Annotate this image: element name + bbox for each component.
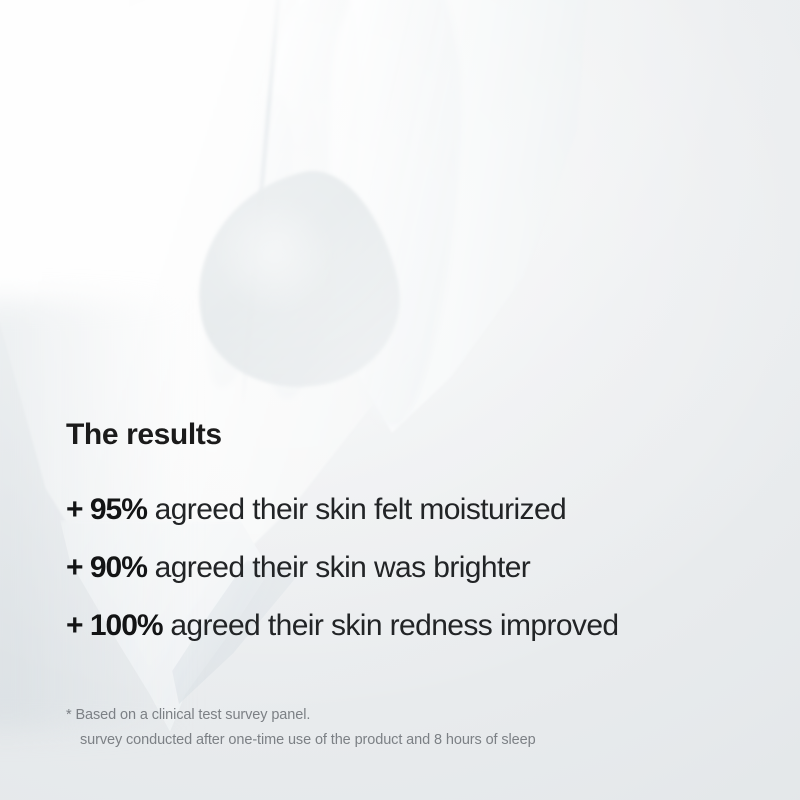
stat-label-1: agreed their skin felt moisturized — [147, 493, 566, 526]
stat-value-3: + 100% — [66, 609, 163, 642]
text-overlay: The results + 95% agreed their skin felt… — [0, 0, 800, 800]
stat-label-2: agreed their skin was brighter — [147, 551, 530, 584]
stat-label-3: agreed their skin redness improved — [163, 609, 619, 642]
stat-value-1: + 95% — [66, 493, 147, 526]
footnote: * Based on a clinical test survey panel.… — [66, 703, 536, 753]
slide-canvas: The results + 95% agreed their skin felt… — [0, 0, 800, 800]
stat-value-2: + 90% — [66, 551, 147, 584]
list-item: + 100% agreed their skin redness improve… — [66, 611, 766, 641]
list-item: + 95% agreed their skin felt moisturized — [66, 495, 766, 525]
list-item: + 90% agreed their skin was brighter — [66, 553, 766, 583]
footnote-line-1: * Based on a clinical test survey panel. — [66, 707, 310, 723]
footnote-line-2: survey conducted after one-time use of t… — [66, 728, 536, 753]
page-title: The results — [66, 418, 222, 452]
results-list: + 95% agreed their skin felt moisturized… — [66, 495, 766, 669]
